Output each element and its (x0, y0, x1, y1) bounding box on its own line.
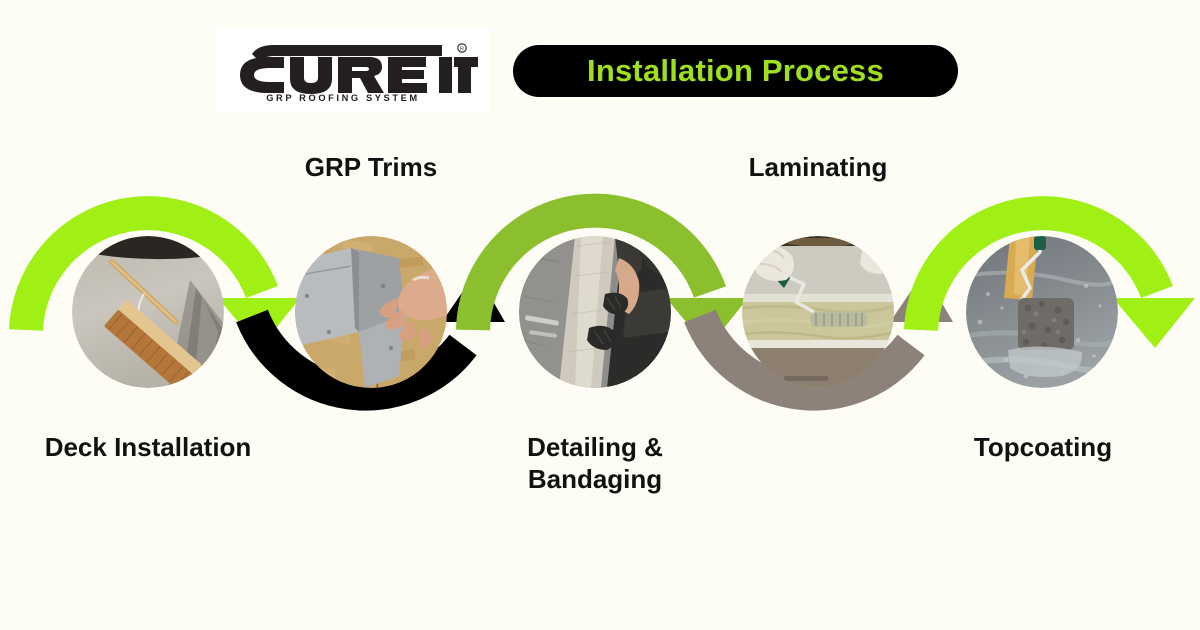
infographic-canvas: R GRP ROOFING SYSTEM Installation Proces… (0, 0, 1200, 630)
step-1-image (72, 236, 224, 388)
step-3-label: Detailing & Bandaging (446, 432, 744, 495)
grp-trims-photo (295, 236, 447, 388)
step-5-image (966, 236, 1118, 388)
svg-text:R: R (460, 46, 464, 52)
cure-it-wordmark-icon: R GRP ROOFING SYSTEM (228, 40, 478, 102)
topcoating-photo (966, 236, 1118, 388)
step-4-image (742, 236, 894, 388)
deck-installation-photo (72, 236, 224, 388)
step-2-image (295, 236, 447, 388)
svg-text:GRP ROOFING SYSTEM: GRP ROOFING SYSTEM (266, 93, 420, 102)
step-3-image (519, 236, 671, 388)
page-title-banner: Installation Process (513, 45, 958, 97)
step-5-label: Topcoating (894, 432, 1192, 464)
page-title: Installation Process (587, 53, 884, 89)
step-1-label: Deck Installation (0, 432, 296, 464)
step-4-label: Laminating (669, 152, 967, 184)
brand-logo: R GRP ROOFING SYSTEM (215, 28, 490, 113)
laminating-photo (742, 236, 894, 388)
detailing-bandaging-photo (519, 236, 671, 388)
cure-it-logo-mark: R GRP ROOFING SYSTEM (228, 40, 478, 102)
step-2-label: GRP Trims (222, 152, 520, 184)
